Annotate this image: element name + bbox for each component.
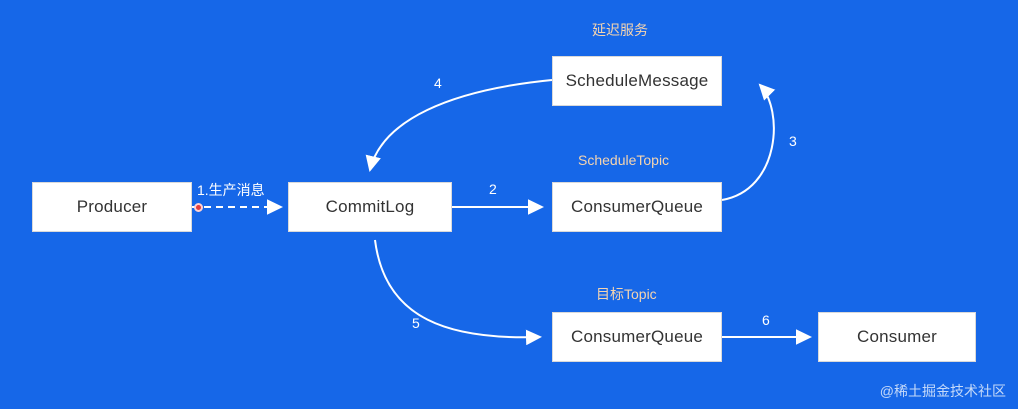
node-consumer-queue-target-label: ConsumerQueue bbox=[571, 327, 703, 347]
node-schedule-message-label: ScheduleMessage bbox=[566, 71, 709, 91]
edge-commitlog-to-target-queue bbox=[375, 240, 540, 337]
node-commitlog[interactable]: CommitLog bbox=[288, 182, 452, 232]
edge-label-step4: 4 bbox=[434, 75, 442, 91]
edge-label-step3: 3 bbox=[789, 133, 797, 149]
edge-label-step6: 6 bbox=[762, 312, 770, 328]
node-producer[interactable]: Producer bbox=[32, 182, 192, 232]
node-consumer-label: Consumer bbox=[857, 327, 937, 347]
node-consumer-queue-schedule-label: ConsumerQueue bbox=[571, 197, 703, 217]
caption-delay-service: 延迟服务 bbox=[592, 20, 648, 40]
diagram-canvas: Producer CommitLog ScheduleMessage Consu… bbox=[0, 0, 1018, 409]
node-consumer-queue-target[interactable]: ConsumerQueue bbox=[552, 312, 722, 362]
node-producer-label: Producer bbox=[77, 197, 148, 217]
caption-target-topic: 目标Topic bbox=[596, 284, 657, 304]
edge-label-produce-message: 1.生产消息 bbox=[197, 180, 265, 200]
watermark-label: @稀土掘金技术社区 bbox=[880, 381, 1006, 401]
caption-schedule-topic: ScheduleTopic bbox=[578, 152, 669, 168]
node-consumer-queue-schedule[interactable]: ConsumerQueue bbox=[552, 182, 722, 232]
node-schedule-message[interactable]: ScheduleMessage bbox=[552, 56, 722, 106]
edge-schedule-queue-to-schedule-message bbox=[722, 85, 774, 200]
connector-dot-icon bbox=[194, 203, 203, 212]
edge-schedule-message-to-commitlog bbox=[370, 80, 552, 170]
node-consumer[interactable]: Consumer bbox=[818, 312, 976, 362]
edge-label-step5: 5 bbox=[412, 315, 420, 331]
node-commitlog-label: CommitLog bbox=[326, 197, 415, 217]
edge-label-step2: 2 bbox=[489, 181, 497, 197]
